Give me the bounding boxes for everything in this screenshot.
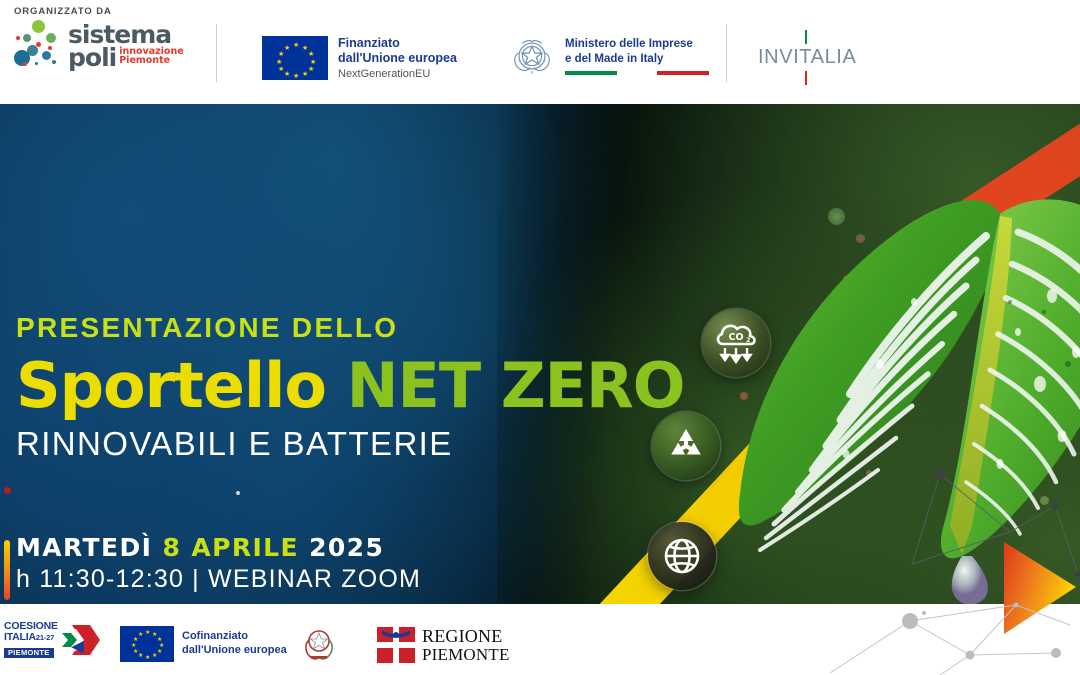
- bokeh-dot: [4, 487, 11, 494]
- invitalia-tick-green: [805, 30, 808, 44]
- hero-kicker: PRESENTAZIONE DELLO: [16, 314, 684, 342]
- network-nodes-graphic-bottom: [820, 595, 1080, 675]
- regione-piemonte-logo: REGIONE PIEMONTE: [376, 626, 510, 664]
- hero-section: CO 2: [0, 104, 1080, 604]
- logo-tagline-line2: Piemonte: [119, 55, 170, 66]
- event-date-highlight: 8 APRILE: [162, 533, 299, 562]
- svg-text:CO: CO: [728, 332, 743, 343]
- hero-subtitle: RINNOVABILI E BATTERIE: [16, 427, 684, 460]
- header-bar: ORGANIZZATO DA sistema: [0, 0, 1080, 104]
- logo-word-poli: poli: [68, 46, 116, 69]
- regione-line1: REGIONE: [422, 627, 510, 646]
- organizer-label: ORGANIZZATO DA: [14, 6, 204, 17]
- event-poster: ORGANIZZATO DA sistema: [0, 0, 1080, 675]
- globe-icon: [648, 522, 716, 590]
- italy-flag-bars: [565, 71, 709, 75]
- coesione-line2: ITALIA: [4, 631, 36, 643]
- flag-bar-red: [657, 71, 709, 75]
- hero-title: Sportello NET ZERO: [16, 354, 684, 417]
- event-date-year: 2025: [309, 533, 384, 562]
- dots-graphic-icon: [14, 20, 64, 72]
- co2-reduction-icon: CO 2: [702, 309, 770, 377]
- event-date-prefix: MARTEDÌ: [16, 533, 152, 562]
- invitalia-name: INVITALIA: [758, 46, 854, 69]
- header-divider-1: [216, 24, 217, 82]
- organizer-block: ORGANIZZATO DA sistema: [14, 6, 204, 72]
- bokeh-dot: [236, 491, 240, 495]
- accent-gradient-bar: [4, 540, 10, 600]
- eu-funding-line1: Finanziato: [338, 36, 457, 51]
- eu-funding-line3: NextGenerationEU: [338, 68, 457, 81]
- event-date-block: MARTEDÌ 8 APRILE 2025 h 11:30-12:30 | WE…: [16, 534, 421, 595]
- svg-text:2: 2: [746, 336, 751, 344]
- italian-emblem-icon: [508, 32, 556, 80]
- cofinanced-eu-logo: ★ ★ ★ ★ ★ ★ ★ ★ ★ ★ ★ ★ Cofinanziato dal…: [120, 626, 287, 662]
- coesione-region: PIEMONTE: [4, 648, 54, 659]
- event-date-line: MARTEDÌ 8 APRILE 2025: [16, 534, 421, 562]
- invitalia-tick-red: [805, 71, 808, 85]
- event-time-line: h 11:30-12:30 | WEBINAR ZOOM: [16, 564, 421, 595]
- ministry-logo: Ministero delle Imprese e del Made in It…: [508, 32, 709, 80]
- eu-funding-logo: ★ ★ ★ ★ ★ ★ ★ ★ ★ ★ ★ ★ Finanziato dall'…: [262, 36, 457, 80]
- ministry-line1: Ministero delle Imprese: [565, 37, 709, 52]
- eu-flag-icon: ★ ★ ★ ★ ★ ★ ★ ★ ★ ★ ★ ★: [120, 626, 174, 662]
- coesione-years: 21-27: [36, 633, 54, 642]
- ministry-line2: e del Made in Italy: [565, 52, 709, 67]
- logo-tagline: innovazione Piemonte: [119, 47, 183, 69]
- eu-funding-line2: dall'Unione europea: [338, 51, 457, 66]
- coesione-arrows-icon: [62, 623, 106, 657]
- eu-flag-icon: ★ ★ ★ ★ ★ ★ ★ ★ ★ ★ ★ ★: [262, 36, 328, 80]
- republic-emblem-icon: [302, 626, 336, 662]
- regione-line2: PIEMONTE: [422, 646, 510, 664]
- sistema-poli-logo: sistema poli innovazione Piemonte: [14, 20, 204, 72]
- hero-title-part1: Sportello: [16, 349, 326, 422]
- hero-text-block: PRESENTAZIONE DELLO Sportello NET ZERO R…: [16, 314, 684, 460]
- cofinanced-line2: dall'Unione europea: [182, 644, 287, 658]
- sistema-poli-wordmark: sistema poli innovazione Piemonte: [68, 23, 184, 69]
- coesione-italia-logo: COESIONE ITALIA21-27 PIEMONTE: [4, 621, 106, 660]
- flag-bar-green: [565, 71, 617, 75]
- invitalia-logo: INVITALIA: [758, 30, 854, 85]
- cofinanced-line1: Cofinanziato: [182, 630, 287, 644]
- hero-title-part2: NET ZERO: [347, 349, 685, 422]
- header-divider-2: [726, 24, 727, 82]
- regione-cross-icon: [376, 626, 416, 664]
